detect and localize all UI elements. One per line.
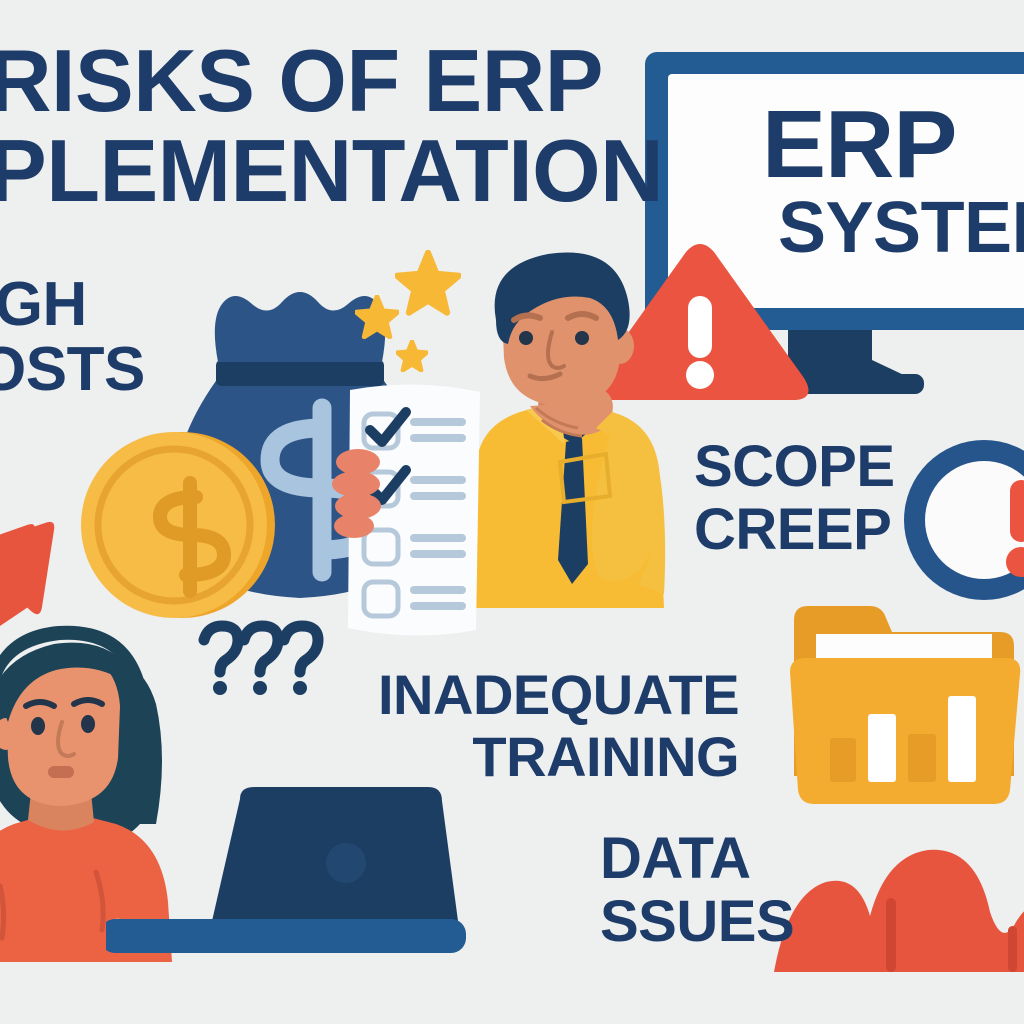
star-icon [395,250,461,316]
data-issues-line-1: DATA [600,828,794,891]
inadequate-training-line-2: TRAINING [378,726,739,788]
hand-icon [328,448,392,544]
scope-creep-line-2: CREEP [694,499,895,562]
chart-bar [908,734,936,782]
chart-bar [948,696,976,782]
title-line-2: PLEMENTATION [0,126,688,216]
high-costs-line-1: IGH [0,272,145,337]
screen-title-erp: ERP [762,98,1024,192]
label-high-costs: IGH OSTS [0,272,145,402]
high-costs-line-2: OSTS [0,337,145,402]
label-data-issues: DATA SSUES [600,828,794,953]
label-scope-creep: SCOPE CREEP [694,436,895,561]
question-marks [196,618,326,698]
star-icon [396,340,428,372]
laptop-icon [106,785,466,965]
thinking-man-illustration [468,248,678,613]
infographic-poster: ERP SYSTEM [0,0,1024,1024]
folder-icon [788,596,1024,808]
alert-circle-icon [900,434,1024,614]
data-issues-line-2: SSUES [600,891,794,954]
coin-icon [78,425,278,625]
star-icon [355,295,399,339]
page-title: RISKS OF ERP PLEMENTATION [0,36,688,216]
chart-bar [830,738,856,782]
label-inadequate-training: INADEQUATE TRAINING [378,664,739,787]
red-hills-shape [760,836,1024,972]
scope-creep-line-1: SCOPE [694,436,895,499]
inadequate-training-line-1: INADEQUATE [378,664,739,726]
chart-bar [868,714,896,782]
title-line-1: RISKS OF ERP [0,36,688,126]
